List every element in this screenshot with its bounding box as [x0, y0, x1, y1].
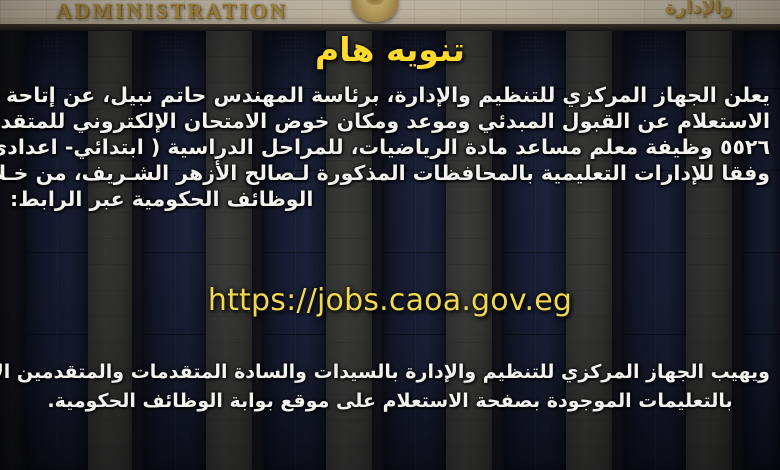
footer-line: ويهيب الجهاز المركزي للتنظيم والإدارة با… — [10, 358, 770, 387]
announcement-body: يعلن الجهاز المركزي للتنظيم والإدارة، بر… — [10, 82, 770, 212]
body-line: ٥٥٢٦ وظيفة معلم مساعد مادة الرياضيات، لل… — [10, 134, 770, 160]
announcement-footer: ويهيب الجهاز المركزي للتنظيم والإدارة با… — [10, 358, 770, 416]
body-line: وفقا للإدارات التعليمية بالمحافظات المذك… — [10, 160, 770, 186]
body-line: يعلن الجهاز المركزي للتنظيم والإدارة، بر… — [10, 82, 770, 108]
announcement-content: تنويه هام يعلن الجهاز المركزي للتنظيم وا… — [0, 0, 780, 470]
footer-line: بالتعليمات الموجودة بصفحة الاستعلام على … — [10, 387, 770, 416]
body-line: الوظائف الحكومية عبر الرابط: — [10, 186, 770, 212]
jobs-portal-link[interactable]: https://jobs.caoa.gov.eg — [0, 283, 780, 318]
announcement-headline: تنويه هام — [0, 30, 780, 69]
announcement-poster: ADMINISTRATION والإدارة تنويه هام يعلن ا… — [0, 0, 780, 470]
body-line: الاستعلام عن القبول المبدئي وموعد ومكان … — [10, 108, 770, 134]
